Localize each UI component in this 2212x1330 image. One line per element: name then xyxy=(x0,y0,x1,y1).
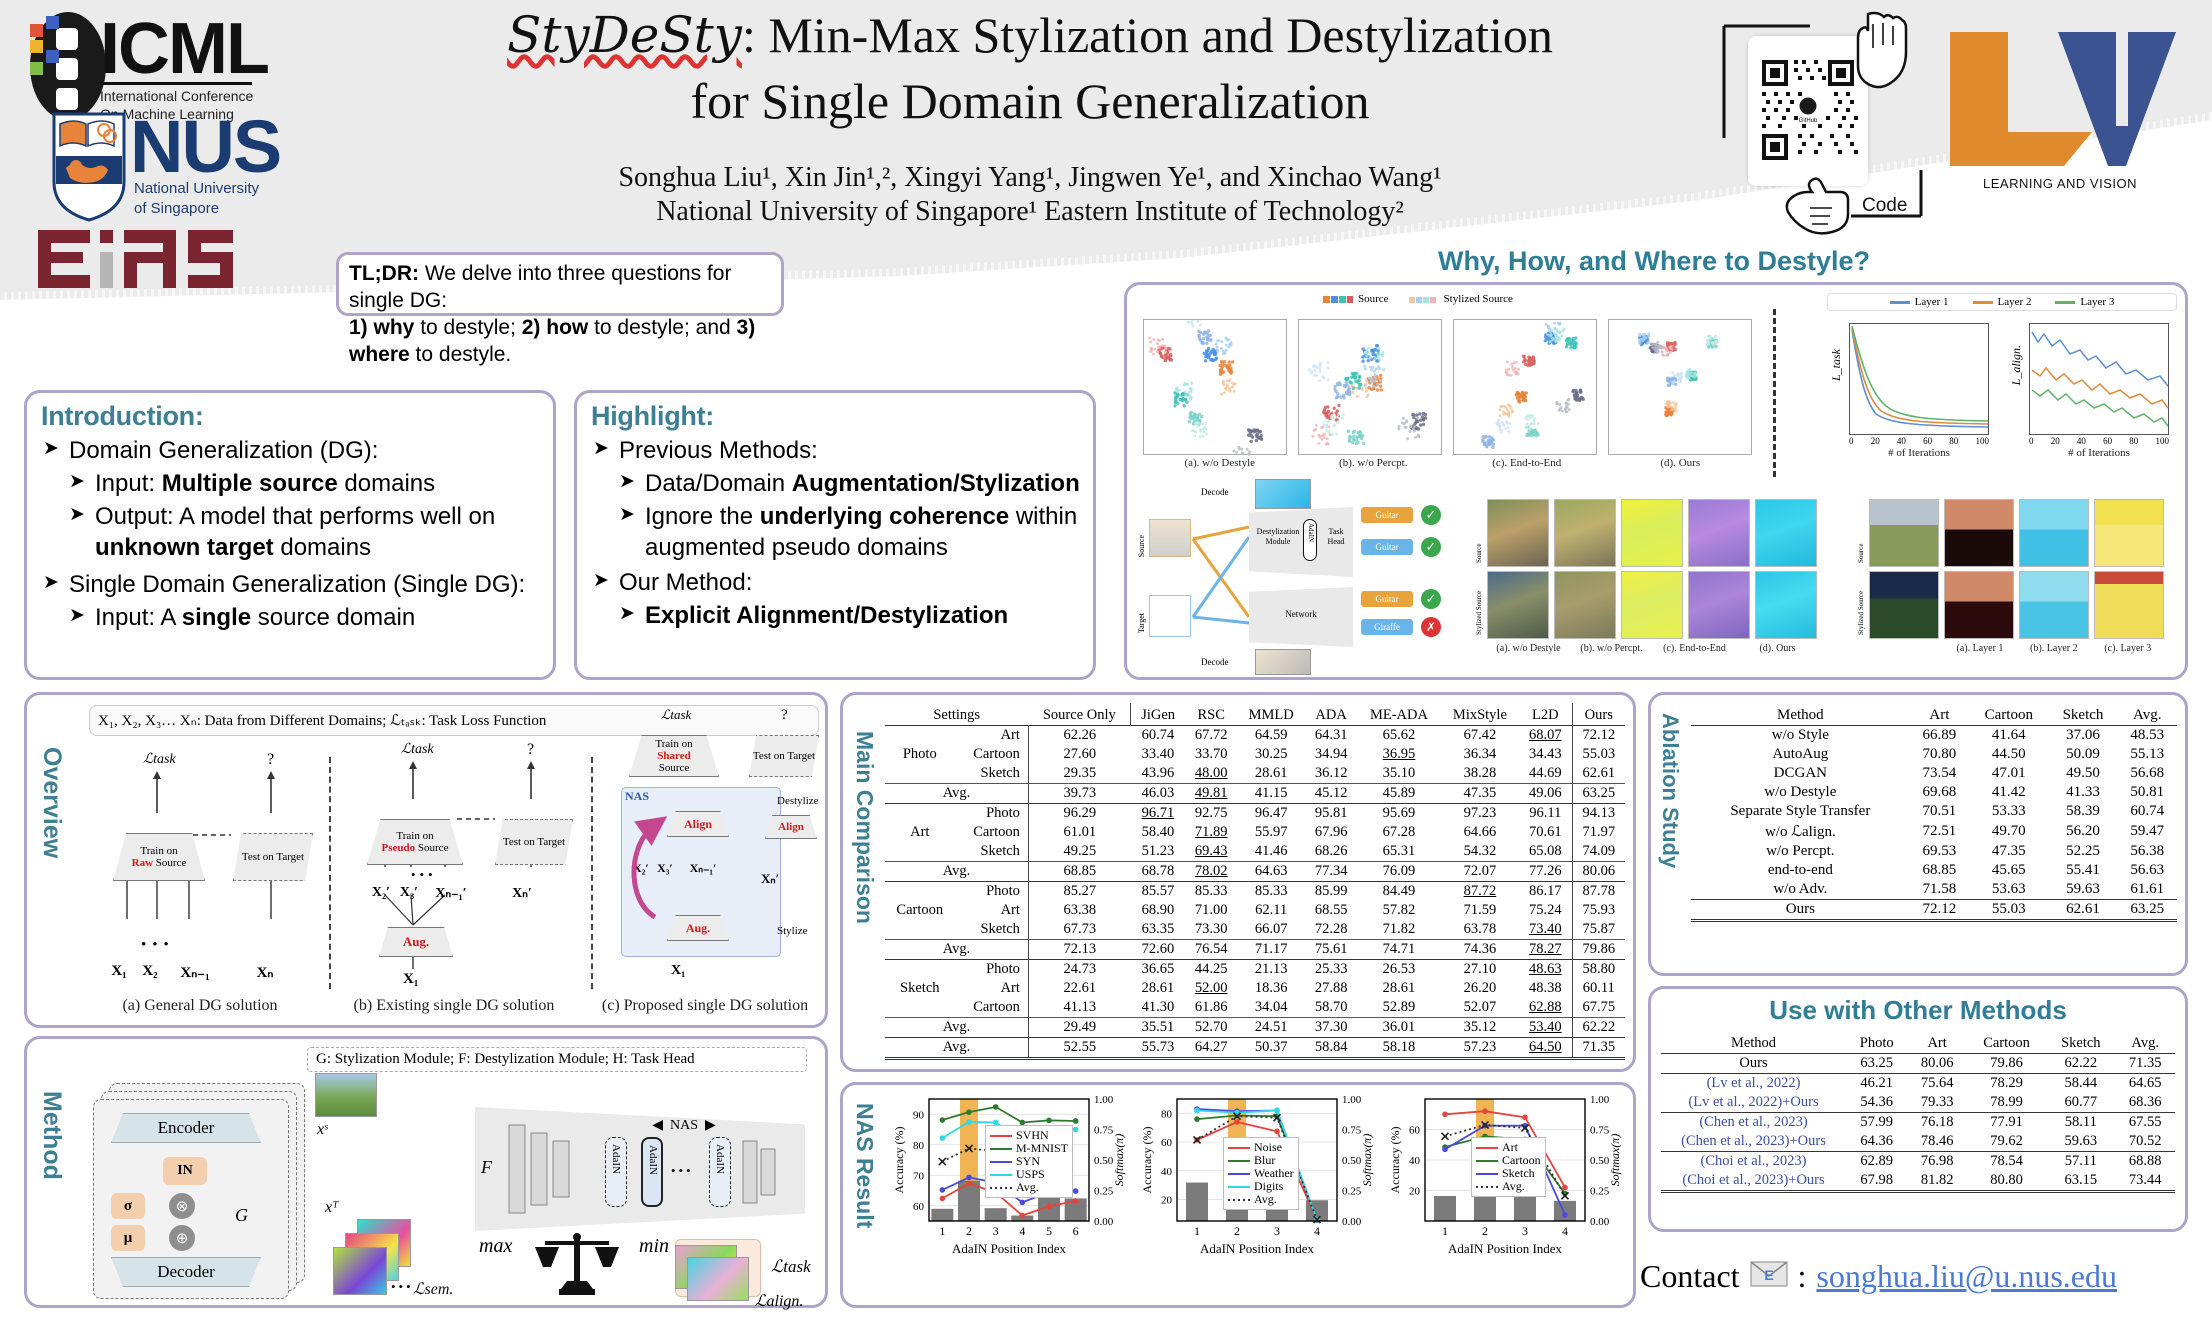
grid2-rowlabel-0: Source xyxy=(1857,507,1867,563)
overview-diagram-a: ℒtask ? Train on Raw Source Test on Targ… xyxy=(91,751,327,997)
svg-text:80: 80 xyxy=(913,1140,925,1152)
list-item: Input: Multiple source domains xyxy=(69,469,543,500)
overview-a-ellipsis: ••• xyxy=(141,937,175,954)
nus-subtitle-1: National University xyxy=(134,180,259,197)
tsne-caption-0: (a). w/o Destyle xyxy=(1143,457,1297,469)
legend-line xyxy=(1228,1160,1250,1162)
highlight-sublist-1: Explicit Alignment/Destylization xyxy=(619,601,1083,632)
svg-text:3: 3 xyxy=(993,1224,999,1238)
list-item: Data/Domain Augmentation/Stylization xyxy=(619,469,1083,500)
loss-align-plot: L_align. 020406080100 # of Iterations xyxy=(2007,323,2177,455)
loss-task-plot: L_task 020406080100 # of Iterations xyxy=(1827,323,1997,455)
tick: 80 xyxy=(2129,436,2138,446)
legend-line xyxy=(1228,1147,1250,1149)
adain-label: AdaIN xyxy=(610,1144,622,1174)
inp: X₃′ xyxy=(395,885,423,902)
overview-b-inputs: X₂′ X₃′ Xₙ₋₁′ Xₙ′ xyxy=(367,885,567,902)
ablation-tab: Ablation Study xyxy=(1657,713,1683,868)
svg-text:1.00: 1.00 xyxy=(1094,1094,1114,1106)
min-label: min xyxy=(639,1235,669,1258)
adain-label: AdaIN xyxy=(1307,523,1315,542)
grid2-cell xyxy=(2094,499,2164,567)
t: Ignore the xyxy=(645,503,760,530)
overview-b-train-box: Train on Pseudo Source xyxy=(367,819,463,865)
grid2-captions: (a). Layer 1 (b). Layer 2 (c). Layer 3 xyxy=(1943,643,2165,654)
use-with-other-table: MethodPhotoArtCartoonSketchAvg.Ours63.25… xyxy=(1661,1031,2175,1193)
overview-subcaption-2: (c) Proposed single DG solution xyxy=(583,997,827,1015)
overview-c-q: ? xyxy=(781,707,788,724)
main-comparison-table: SettingsSource OnlyJiGenRSCMMLDADAME-ADA… xyxy=(885,703,1625,1060)
page-title-line2: for Single Domain Generalization xyxy=(350,72,1710,130)
grid2-cell xyxy=(1869,571,1939,639)
legend-line xyxy=(1476,1186,1498,1188)
grid1-caption-1: (b). w/o Percpt. xyxy=(1570,643,1653,654)
lbl-red: Raw xyxy=(132,857,153,869)
adain-label: AdaIN xyxy=(647,1145,659,1175)
t-b: unknown target xyxy=(95,534,274,561)
destyle-pipeline-diagram: Source Target Destylization Module AdaIN… xyxy=(1137,485,1467,675)
nas-result-panel: NAS Result 607080900.000.250.500.751.001… xyxy=(840,1082,1636,1308)
nus-subtitle-2: of Singapore xyxy=(134,200,219,217)
svg-text:6: 6 xyxy=(1073,1224,1079,1238)
grid1-cell xyxy=(1688,499,1750,567)
decoded-image-bottom xyxy=(1255,649,1311,675)
tsne-legend-label-1: Stylized Source xyxy=(1444,293,1513,305)
t: Data/Domain xyxy=(645,470,792,497)
inp: Xₙ₋₁′ xyxy=(423,885,479,902)
check-icon: ✓ xyxy=(1421,505,1441,525)
legend-item: Avg. xyxy=(1476,1180,1541,1193)
legend-line xyxy=(1228,1186,1250,1188)
lbl-post: Source xyxy=(418,842,449,854)
method-panel: Method G: Stylization Module; F: Destyli… xyxy=(24,1036,828,1308)
list-item: Previous Methods: Data/Domain Augmentati… xyxy=(593,436,1083,564)
decoder-box: Decoder xyxy=(111,1257,261,1287)
max-label: max xyxy=(479,1235,512,1258)
legend-line xyxy=(990,1135,1012,1137)
page-title: StyDeSty: Min-Max Stylization and Destyl… xyxy=(350,8,1710,62)
overview-b-ellipsis: ••• xyxy=(411,867,437,883)
svg-text:Softmax(π): Softmax(π) xyxy=(1608,1134,1622,1187)
f-label: F xyxy=(481,1157,492,1178)
svg-text:20: 20 xyxy=(1161,1194,1173,1206)
overview-divider-1 xyxy=(329,757,331,989)
method-tab: Method xyxy=(37,1091,66,1180)
legend-line-layer1 xyxy=(1890,301,1910,304)
grid1-caption-0: (a). w/o Destyle xyxy=(1487,643,1570,654)
lbl: Train on xyxy=(140,845,177,857)
svg-text:60: 60 xyxy=(913,1201,925,1213)
legend-line xyxy=(990,1148,1012,1150)
inp: Xₙ xyxy=(225,963,305,982)
xs-label: xˢ xyxy=(317,1121,327,1139)
multiply-icon: ⊗ xyxy=(169,1193,195,1219)
eit-logo xyxy=(38,230,233,288)
nas-plots-container: 607080900.000.250.500.751.00123456Accura… xyxy=(889,1091,1631,1303)
contact-email-link[interactable]: songhua.liu@u.nus.edu xyxy=(1816,1258,2117,1295)
tick: 40 xyxy=(2077,436,2086,446)
tick: 60 xyxy=(2103,436,2112,446)
loss-legend-2: Layer 3 xyxy=(2080,296,2114,308)
inp: X₁ xyxy=(103,963,135,982)
use-with-other-title: Use with Other Methods xyxy=(1651,995,2185,1026)
diagram-source-image xyxy=(1149,519,1191,557)
grid1-cell xyxy=(1755,571,1817,639)
svg-text:0.50: 0.50 xyxy=(1094,1155,1114,1167)
highlight-list: Previous Methods: Data/Domain Augmentati… xyxy=(593,436,1083,631)
check-icon: ✓ xyxy=(1421,537,1441,557)
nas-span-label: ◀ NAS ▶ xyxy=(599,1117,769,1134)
svg-text:20: 20 xyxy=(1409,1186,1421,1198)
lv-logo xyxy=(1940,26,2180,176)
overview-b-arrows xyxy=(345,759,581,985)
tldr-how: 2) how xyxy=(522,316,589,339)
t: Output: A model that performs well on xyxy=(95,503,495,530)
lv-logo-label: LEARNING AND VISION xyxy=(1940,176,2180,191)
lbl-red: Pseudo xyxy=(382,842,416,854)
layer-image-grid: Source Stylized Source (a). Layer 1 (b).… xyxy=(1857,493,2175,671)
network-label: Network xyxy=(1249,609,1353,619)
affiliations: National University of Singapore¹ Easter… xyxy=(350,196,1710,228)
grid1-rowlabel-0: Source xyxy=(1475,507,1485,563)
overview-c-loss: ℒtask xyxy=(661,707,691,723)
loss-align-ylabel: L_align. xyxy=(2009,345,2024,385)
svg-text:5: 5 xyxy=(1046,1224,1052,1238)
tsne-panel-2 xyxy=(1453,319,1597,455)
contact-row: Contact E : songhua.liu@u.nus.edu xyxy=(1640,1258,2200,1295)
svg-text:0.75: 0.75 xyxy=(1342,1125,1362,1137)
svg-text:0.00: 0.00 xyxy=(1590,1216,1610,1228)
overview-tab: Overview xyxy=(37,747,66,858)
ablation-panel: Ablation Study MethodArtCartoonSketchAvg… xyxy=(1648,692,2188,976)
nas-result-tab-label: NAS Result xyxy=(851,1103,878,1228)
introduction-sublist-0: Input: Multiple source domains Output: A… xyxy=(69,469,543,564)
grid2-caption-1: (b). Layer 2 xyxy=(2017,643,2091,654)
main-comparison-panel: Main Comparison SettingsSource OnlyJiGen… xyxy=(840,692,1636,1072)
destylization-module-label: Destylization Module xyxy=(1255,527,1301,546)
instance-norm-box: IN xyxy=(163,1157,207,1185)
loss-align-xlabel: # of Iterations xyxy=(2029,447,2169,459)
svg-text:0.25: 0.25 xyxy=(1590,1186,1610,1198)
tsne-caption-2: (c). End-to-End xyxy=(1450,457,1604,469)
grid2-cell xyxy=(1869,499,1939,567)
decoded-image-top xyxy=(1255,479,1311,509)
add-icon: ⊕ xyxy=(169,1225,195,1251)
task-head-label: Task Head xyxy=(1321,527,1351,546)
inp: Xₙ′ xyxy=(479,885,565,902)
source-image-xs xyxy=(315,1073,377,1117)
svg-text:0.50: 0.50 xyxy=(1590,1155,1610,1167)
grid1-cell xyxy=(1621,571,1683,639)
tldr-line-1: TL;DR: We delve into three questions for… xyxy=(349,261,771,315)
svg-text:1: 1 xyxy=(939,1224,945,1238)
introduction-panel: Introduction: Domain Generalization (DG)… xyxy=(24,390,556,680)
overview-subcaption-0: (a) General DG solution xyxy=(75,997,325,1015)
t-b: Multiple source xyxy=(162,470,338,497)
overview-subcaptions: (a) General DG solution (b) Existing sin… xyxy=(75,997,827,1015)
svg-text:70: 70 xyxy=(913,1170,925,1182)
grid2-caption-2: (c). Layer 3 xyxy=(2091,643,2165,654)
nas-chart-2: 2040600.000.250.500.751.001234Accuracy (… xyxy=(1385,1091,1629,1299)
method-legend: G: Stylization Module; F: Destylization … xyxy=(307,1047,807,1072)
grid1-captions: (a). w/o Destyle (b). w/o Percpt. (c). E… xyxy=(1487,643,1819,654)
overview-diagram-c: ℒtask ? Train on Shared Source Test on T… xyxy=(609,731,821,999)
legend-line xyxy=(1228,1199,1250,1201)
highlight-sublist-0: Data/Domain Augmentation/Stylization Ign… xyxy=(619,469,1083,564)
title-method-name: StyDeSty xyxy=(507,6,742,64)
t: Input: A xyxy=(95,604,182,631)
why-how-where-panel: Source Stylized Source (a). w/o Destyle … xyxy=(1124,282,2188,680)
list-item: Domain Generalization (DG): Input: Multi… xyxy=(43,436,543,564)
grid1-cells xyxy=(1487,499,1819,639)
nas-chart-1: 204060800.000.250.500.751.001234Accuracy… xyxy=(1137,1091,1381,1299)
list-item: Input: A single source domain xyxy=(69,603,543,634)
legend-swatch-source xyxy=(1323,295,1353,304)
svg-text:40: 40 xyxy=(1409,1155,1421,1167)
tldr-t1: to destyle; xyxy=(414,316,521,339)
loss-task-ylabel: L_task xyxy=(1829,349,1844,381)
overview-a-test-box: Test on Target xyxy=(233,833,313,881)
overview-b-test-box: Test on Target xyxy=(495,819,573,865)
svg-text:0.00: 0.00 xyxy=(1342,1216,1362,1228)
legend-line xyxy=(1476,1173,1498,1175)
svg-text:0.75: 0.75 xyxy=(1094,1125,1114,1137)
svg-text:0.25: 0.25 xyxy=(1342,1186,1362,1198)
adain-pill: AdaIN xyxy=(1303,519,1317,561)
f-tail-blocks xyxy=(741,1135,783,1209)
overview-divider-2 xyxy=(591,757,593,989)
tick: 100 xyxy=(1975,436,1989,446)
list-item: Our Method: Explicit Alignment/Destyliza… xyxy=(593,568,1083,631)
lbl-red: Shared xyxy=(657,750,690,762)
svg-text:AdaIN Position Index: AdaIN Position Index xyxy=(1448,1241,1563,1256)
inp: X₂ xyxy=(135,963,165,982)
g-label: G xyxy=(235,1205,248,1226)
tsne-panel-0 xyxy=(1143,319,1287,455)
lbl: Test on Target xyxy=(242,851,304,863)
list-item: Explicit Alignment/Destylization xyxy=(619,601,1083,632)
overview-a-train-box: Train on Raw Source xyxy=(113,833,205,881)
svg-text:60: 60 xyxy=(1409,1125,1421,1137)
adain-block-3[interactable]: AdaIN xyxy=(709,1137,731,1207)
grid1-cell xyxy=(1487,571,1549,639)
svg-text:3: 3 xyxy=(1522,1224,1528,1238)
svg-text:3: 3 xyxy=(1274,1224,1280,1238)
highlight-title: Highlight: xyxy=(591,401,1093,432)
list-item: Output: A model that performs well on un… xyxy=(69,502,543,563)
lbl: Train on xyxy=(396,830,433,842)
overview-c-test-box: Test on Target xyxy=(749,735,819,777)
loss-sem-label: ℒsem. xyxy=(413,1279,453,1299)
t: Input: xyxy=(95,470,162,497)
list-item: Ignore the underlying coherence within a… xyxy=(619,502,1083,563)
t-b: underlying coherence xyxy=(760,503,1009,530)
overview-b-q: ? xyxy=(527,741,534,759)
svg-text:90: 90 xyxy=(913,1109,925,1121)
tsne-panel-1 xyxy=(1298,319,1442,455)
hl-item-0-text: Previous Methods: xyxy=(619,437,818,464)
highlight-panel: Highlight: Previous Methods: Data/Domain… xyxy=(574,390,1096,680)
legend-line-layer3 xyxy=(2055,301,2075,304)
legend-line xyxy=(1228,1173,1250,1175)
xt-label: xᵀ xyxy=(325,1199,338,1217)
introduction-title: Introduction: xyxy=(41,401,553,432)
intro-item-1-text: Single Domain Generalization (Single DG)… xyxy=(69,571,525,598)
t-p: domains xyxy=(338,470,435,497)
check-icon: ✓ xyxy=(1421,589,1441,609)
lbl-red: Aug. xyxy=(403,934,429,950)
cross-icon: ✗ xyxy=(1421,617,1441,637)
tldr-label: TL;DR: xyxy=(349,262,419,285)
nas-chart-1-legend: NoiseBlurWeatherDigitsAvg. xyxy=(1223,1137,1299,1210)
main-comparison-tab: Main Comparison xyxy=(851,731,878,924)
prediction-d: Giraffe xyxy=(1361,619,1413,635)
overview-c-cycle-arrow xyxy=(623,791,779,959)
svg-text:0.75: 0.75 xyxy=(1590,1125,1610,1137)
lbl: Test on Target xyxy=(503,836,565,848)
legend-label: Avg. xyxy=(1016,1180,1039,1195)
intro-item-0-text: Domain Generalization (DG): xyxy=(69,437,378,464)
tsne-legend-label-0: Source xyxy=(1358,293,1389,305)
loss-task-label: ℒtask xyxy=(771,1257,811,1277)
introduction-sublist-1: Input: A single source domain xyxy=(69,603,543,634)
svg-text:0.50: 0.50 xyxy=(1342,1155,1362,1167)
why-how-where-title: Why, How, and Where to Destyle? xyxy=(1124,246,2184,277)
contact-label: Contact xyxy=(1640,1258,1740,1295)
legend-label: Avg. xyxy=(1502,1179,1525,1194)
prediction-c: Guitar xyxy=(1361,591,1413,607)
encoder-box: Encoder xyxy=(111,1113,261,1143)
icml-wordmark: ICML xyxy=(100,8,268,90)
legend-item: Avg. xyxy=(990,1181,1068,1194)
svg-text:Softmax(π): Softmax(π) xyxy=(1360,1134,1374,1187)
lbl: Train on xyxy=(655,738,692,750)
diagram-target-label: Target xyxy=(1137,613,1149,633)
lbl: Test on Target xyxy=(753,750,815,762)
nas-label: NAS xyxy=(670,1118,698,1133)
use-with-other-panel: Use with Other Methods MethodPhotoArtCar… xyxy=(1648,986,2188,1232)
tsne-captions: (a). w/o Destyle (b). w/o Percpt. (c). E… xyxy=(1143,457,1757,469)
overview-b-loss: ℒtask xyxy=(401,741,434,758)
overview-panel: Overview X₁, X₂, X₃… Xₙ: Data from Diffe… xyxy=(24,692,828,1028)
grid2-cell xyxy=(1944,499,2014,567)
loss-legend-0: Layer 1 xyxy=(1915,296,1949,308)
svg-text:AdaIN Position Index: AdaIN Position Index xyxy=(1200,1241,1315,1256)
svg-text:40: 40 xyxy=(1161,1166,1173,1178)
svg-text:Softmax(π): Softmax(π) xyxy=(1112,1134,1126,1187)
qr-github-label: GitHub xyxy=(1799,118,1818,124)
adain-block-2[interactable]: AdaIN xyxy=(641,1137,663,1207)
svg-text:Accuracy (%): Accuracy (%) xyxy=(892,1127,906,1194)
inp: X₂′ xyxy=(367,885,395,902)
legend-label: Avg. xyxy=(1254,1192,1277,1207)
title-rest: : Min-Max Stylization and Destylization xyxy=(742,7,1553,63)
sigma-box: σ xyxy=(111,1193,145,1219)
grid1-caption-2: (c). End-to-End xyxy=(1653,643,1736,654)
envelope-icon: E xyxy=(1750,1258,1788,1295)
tldr-why: 1) why xyxy=(349,316,414,339)
tick: 60 xyxy=(1923,436,1932,446)
tick: 20 xyxy=(1871,436,1880,446)
loss-legend-1: Layer 2 xyxy=(1998,296,2032,308)
tsne-caption-1: (b). w/o Percpt. xyxy=(1297,457,1451,469)
t-b: single xyxy=(182,604,251,631)
nas-chart-2-legend: ArtCartoonSketchAvg. xyxy=(1471,1137,1546,1197)
tldr-t3: to destyle. xyxy=(410,343,512,366)
contact-separator: : xyxy=(1798,1258,1807,1295)
loss-align-xticks: 020406080100 xyxy=(2029,436,2169,446)
grid2-cell xyxy=(2094,571,2164,639)
tick: 0 xyxy=(1849,436,1854,446)
stylized-image-3 xyxy=(333,1247,387,1295)
overview-b-aug-box: Aug. xyxy=(379,927,453,957)
grid2-cell xyxy=(2019,499,2089,567)
tsne-legend: Source Stylized Source xyxy=(1323,293,1513,305)
images-ellipsis: ••• xyxy=(391,1279,414,1295)
loss-task-xticks: 020406080100 xyxy=(1849,436,1989,446)
svg-text:Accuracy (%): Accuracy (%) xyxy=(1388,1127,1402,1194)
grid2-caption-0: (a). Layer 1 xyxy=(1943,643,2017,654)
grid1-cell xyxy=(1688,571,1750,639)
adain-label: AdaIN xyxy=(714,1144,726,1174)
diagram-target-image xyxy=(1149,595,1191,637)
legend-line xyxy=(1476,1147,1498,1149)
svg-text:0.25: 0.25 xyxy=(1094,1186,1114,1198)
svg-text:0.00: 0.00 xyxy=(1094,1216,1114,1228)
grid1-rowlabel-1: Stylized Source xyxy=(1475,569,1485,635)
adain-block-1[interactable]: AdaIN xyxy=(605,1137,627,1207)
overview-c-base: X₁ xyxy=(671,963,685,979)
f-conv-blocks xyxy=(507,1119,593,1219)
loss-align-label: ℒalign. xyxy=(755,1291,803,1311)
tsne-panel-3 xyxy=(1608,319,1752,455)
ablation-table: MethodArtCartoonSketchAvg.w/o Style66.89… xyxy=(1691,703,2177,922)
diagram-source-label: Source xyxy=(1137,535,1149,557)
decode-bottom-label: Decode xyxy=(1201,657,1228,667)
svg-text:4: 4 xyxy=(1019,1224,1025,1238)
qr-code-label: Code xyxy=(1862,195,1907,217)
decode-top-label: Decode xyxy=(1201,487,1228,497)
grid1-cell xyxy=(1621,499,1683,567)
inp: Xₙ₋₁ xyxy=(165,963,225,982)
legend-line xyxy=(990,1187,1012,1189)
adain-ellipsis: ••• xyxy=(671,1163,694,1179)
overview-diagram-b: ℒtask ? Train on Pseudo Source Test on T… xyxy=(345,741,581,997)
svg-text:80: 80 xyxy=(1161,1108,1173,1120)
vertical-divider xyxy=(1773,309,1776,477)
svg-text:AdaIN Position Index: AdaIN Position Index xyxy=(952,1241,1067,1256)
overview-subcaption-1: (b) Existing single DG solution xyxy=(325,997,583,1015)
svg-text:1.00: 1.00 xyxy=(1342,1094,1362,1106)
t-b: Explicit Alignment/Destylization xyxy=(645,602,1008,629)
svg-text:1.00: 1.00 xyxy=(1590,1094,1610,1106)
authors: Songhua Liu¹, Xin Jin¹,², Xingyi Yang¹, … xyxy=(350,162,1710,194)
overview-c-align-box-2: Align xyxy=(765,815,817,839)
grid1-cell xyxy=(1487,499,1549,567)
nas-chart-0: 607080900.000.250.500.751.00123456Accura… xyxy=(889,1091,1133,1299)
grid2-cell xyxy=(1944,571,2014,639)
nus-wordmark: NUS xyxy=(130,104,280,189)
tsne-panels xyxy=(1143,319,1757,455)
legend-item: Avg. xyxy=(1228,1193,1294,1206)
list-item: Single Domain Generalization (Single DG)… xyxy=(43,570,543,633)
lbl-post: Source xyxy=(156,857,187,869)
overview-c-input-n: Xₙ′ xyxy=(761,871,779,887)
t-b: Augmentation/Stylization xyxy=(792,470,1080,497)
mu-box: μ xyxy=(111,1225,145,1251)
loss-legend: Layer 1 Layer 2 Layer 3 xyxy=(1827,293,2177,311)
prediction-b: Guitar xyxy=(1361,539,1413,555)
